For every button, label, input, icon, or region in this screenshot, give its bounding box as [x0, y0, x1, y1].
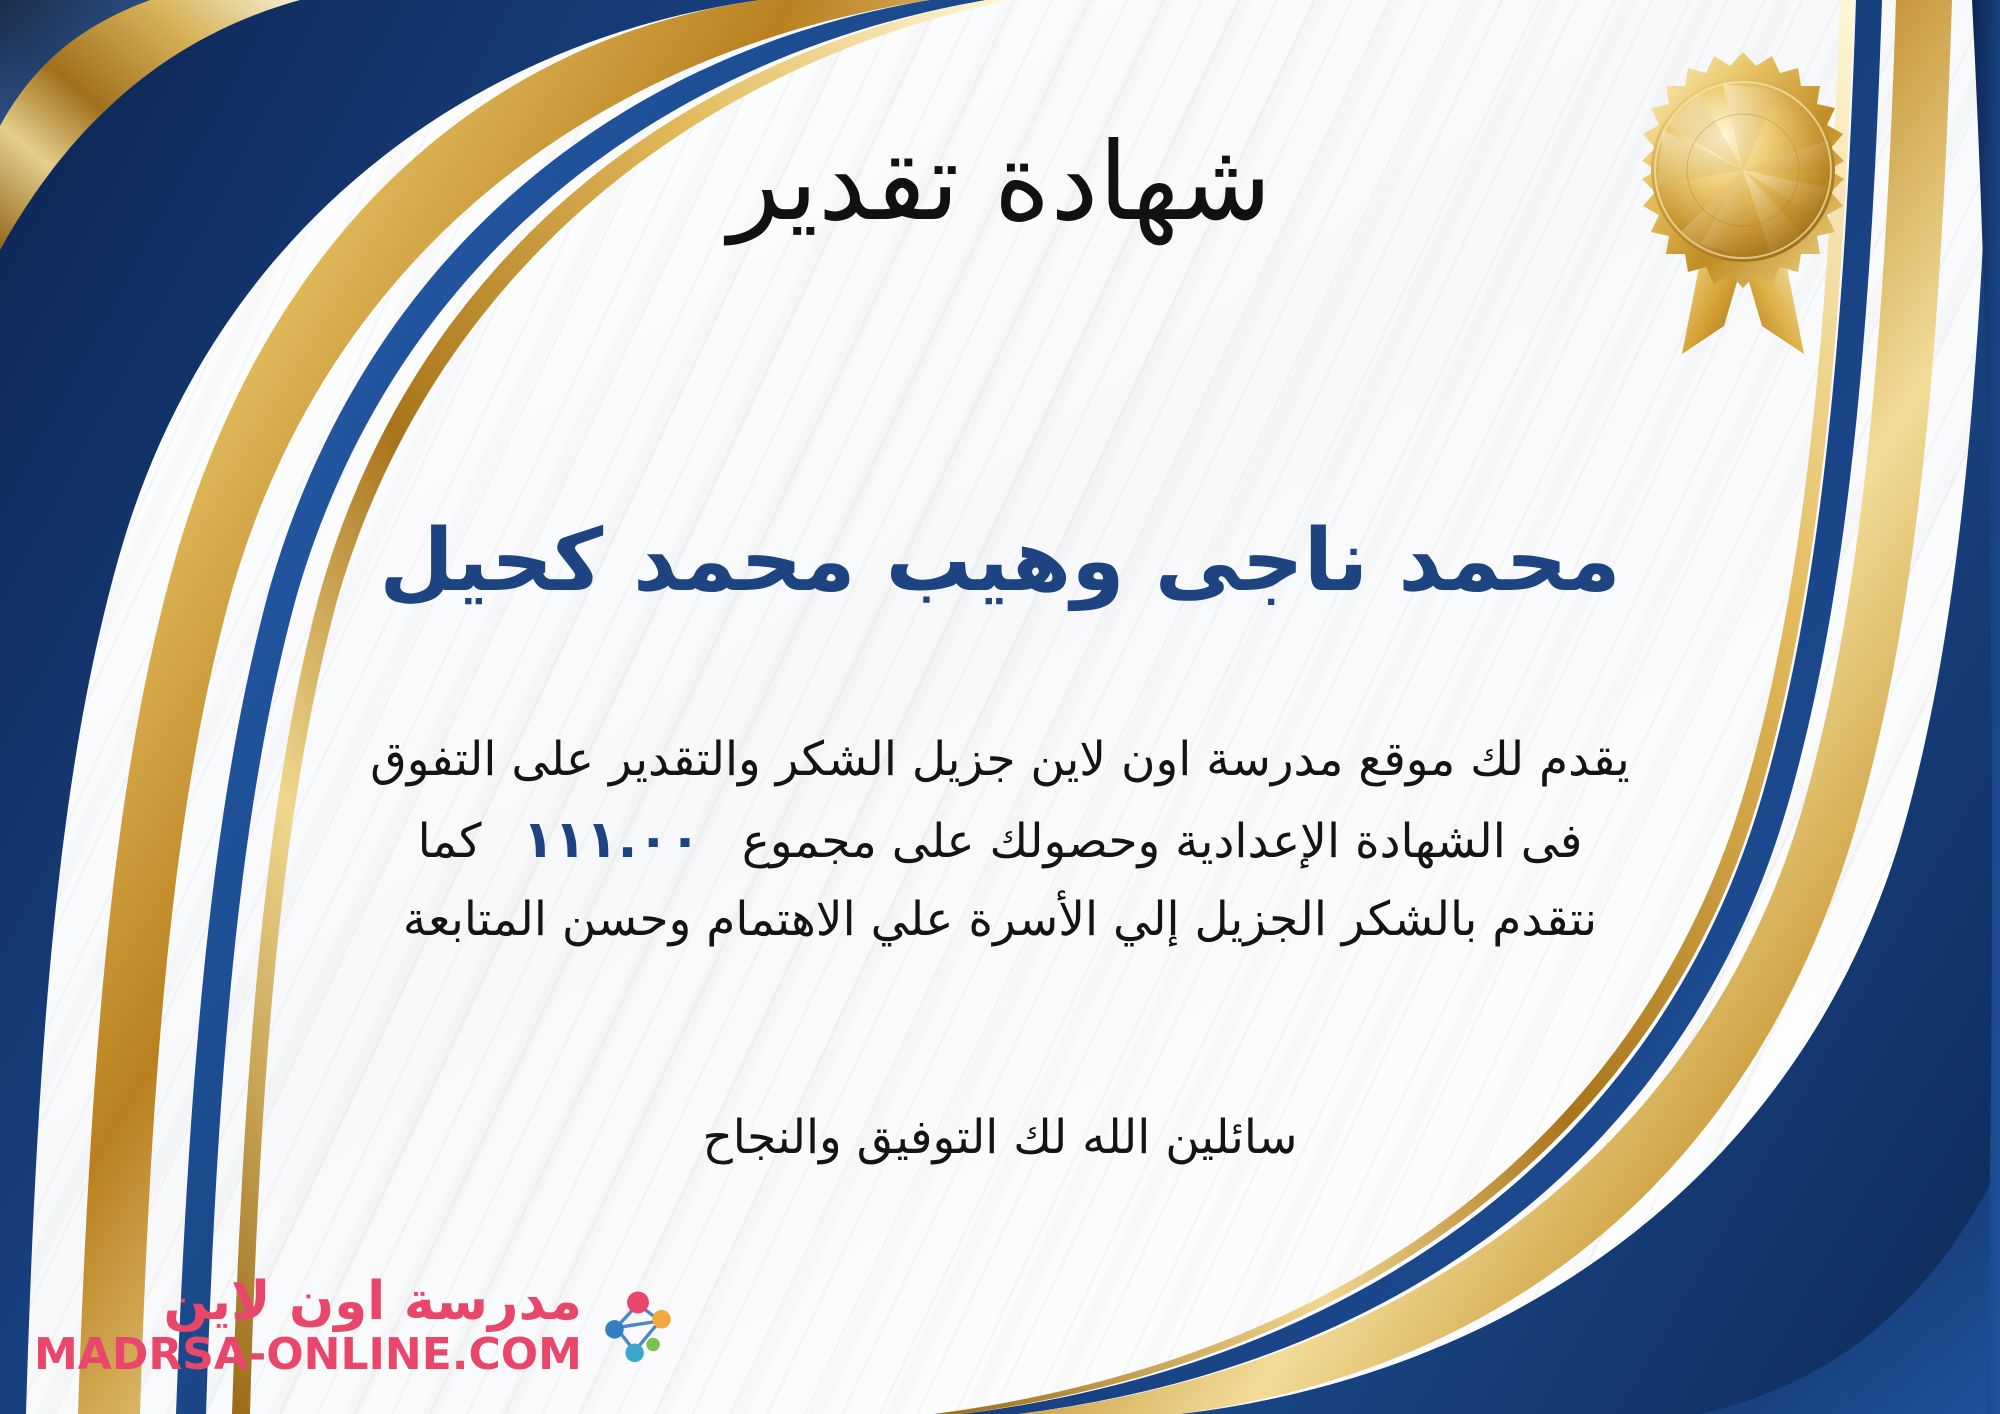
body-paragraph: يقدم لك موقع مدرسة اون لاين جزيل الشكر و… [40, 722, 1960, 958]
brand-text: مدرسة اون لاين MADRSA-ONLINE.COM [34, 1275, 582, 1378]
certificate-content: شهادة تقدير محمد ناجى وهيب محمد كحيل يقد… [0, 0, 2000, 1414]
total-score-value: ١١١.٠٠ [496, 810, 726, 870]
brand-website-url[interactable]: MADRSA-ONLINE.COM [34, 1332, 582, 1378]
body-line-1: يقدم لك موقع مدرسة اون لاين جزيل الشكر و… [40, 722, 1960, 798]
page-title: شهادة تقدير [0, 126, 2000, 239]
network-nodes-icon [596, 1284, 680, 1368]
body-line-2-text-before: فى الشهادة الإعدادية وحصولك على مجموع [742, 814, 1583, 869]
closing-wish: سائلين الله لك التوفيق والنجاح [0, 1110, 2000, 1165]
certificate-page: شهادة تقدير محمد ناجى وهيب محمد كحيل يقد… [0, 0, 2000, 1414]
brand-footer[interactable]: مدرسة اون لاين MADRSA-ONLINE.COM [34, 1275, 680, 1378]
brand-name-arabic: مدرسة اون لاين [163, 1275, 582, 1328]
body-line-3: نتقدم بالشكر الجزيل إلي الأسرة علي الاهت… [40, 882, 1960, 958]
student-name: محمد ناجى وهيب محمد كحيل [0, 512, 2000, 611]
body-line-2: فى الشهادة الإعدادية وحصولك على مجموع ١١… [40, 798, 1960, 882]
body-line-2-text-after: كما [418, 814, 482, 869]
